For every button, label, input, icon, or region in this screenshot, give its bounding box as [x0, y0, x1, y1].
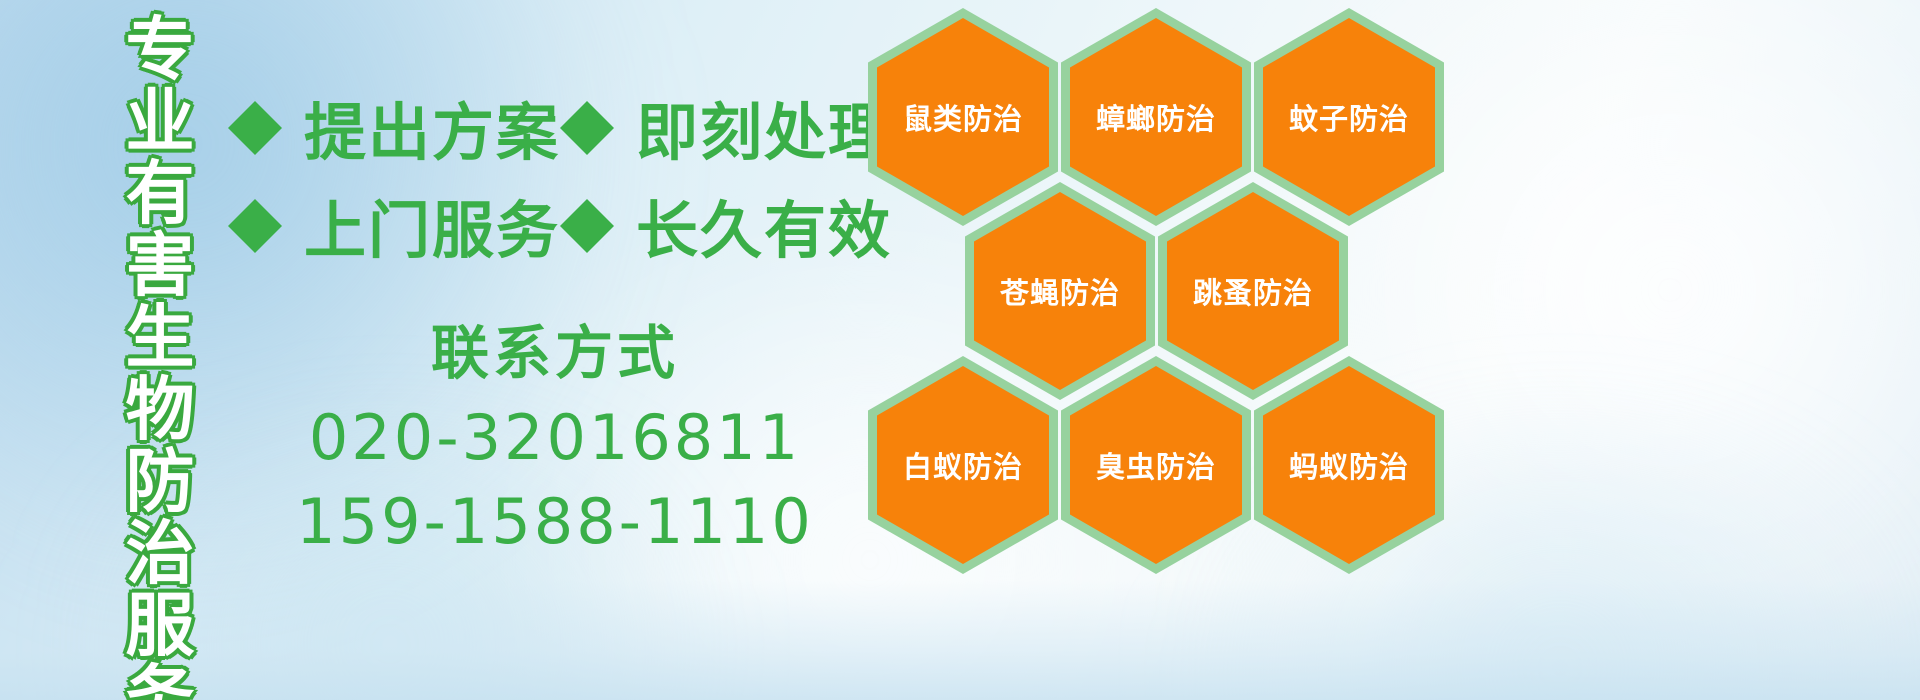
- feature-row: 提出方案 即刻处理: [228, 78, 868, 176]
- pest-control-banner: 专 业 有 害 生 物 防 治 服 务 提出方案 即刻处理 上门服务: [0, 0, 1920, 700]
- headline-char: 有: [126, 158, 195, 230]
- headline-char: 物: [126, 374, 195, 446]
- diamond-bullet-icon: [228, 74, 282, 128]
- feature-row: 上门服务 长久有效: [228, 176, 868, 274]
- service-label: 臭虫防治: [1096, 444, 1216, 486]
- service-label: 蚊子防治: [1289, 96, 1409, 138]
- headline-char: 务: [126, 662, 195, 700]
- service-hex-bedbug[interactable]: 臭虫防治: [1061, 356, 1251, 574]
- feature-label: 即刻处理: [636, 82, 892, 172]
- service-label: 鼠类防治: [903, 96, 1023, 138]
- feature-item: 上门服务: [228, 180, 560, 270]
- service-label: 蟑螂防治: [1096, 96, 1216, 138]
- contact-block: 联系方式 020-32016811 159-1588-1110: [240, 310, 870, 564]
- feature-item: 即刻处理: [560, 82, 892, 172]
- diamond-bullet-icon: [228, 172, 282, 226]
- headline-char: 生: [126, 302, 195, 374]
- feature-list: 提出方案 即刻处理 上门服务 长久有效: [228, 78, 868, 274]
- service-label: 白蚁防治: [903, 444, 1023, 486]
- feature-label: 上门服务: [304, 180, 560, 270]
- service-label: 苍蝇防治: [1000, 270, 1120, 312]
- service-hex-cockroach[interactable]: 蟑螂防治: [1061, 8, 1251, 226]
- feature-label: 长久有效: [636, 180, 892, 270]
- feature-label: 提出方案: [304, 82, 560, 172]
- service-label: 跳蚤防治: [1193, 270, 1313, 312]
- service-hex-termite[interactable]: 白蚁防治: [868, 356, 1058, 574]
- headline-char: 服: [126, 590, 195, 662]
- headline-char: 防: [126, 446, 195, 518]
- phone-number-landline[interactable]: 020-32016811: [240, 396, 870, 480]
- headline-char: 治: [126, 518, 195, 590]
- service-hex-flea[interactable]: 跳蚤防治: [1158, 182, 1348, 400]
- diamond-bullet-icon: [560, 172, 614, 226]
- service-hexagon-grid: 鼠类防治 蟑螂防治 蚊子防治 苍蝇防治 跳蚤防治 白蚁防治 臭虫防治 蚂蚁: [862, 0, 1462, 700]
- diamond-bullet-icon: [560, 74, 614, 128]
- service-hex-mosquito[interactable]: 蚊子防治: [1254, 8, 1444, 226]
- headline-char: 害: [126, 230, 195, 302]
- contact-title: 联系方式: [240, 310, 870, 396]
- phone-number-mobile[interactable]: 159-1588-1110: [240, 480, 870, 564]
- vertical-headline: 专 业 有 害 生 物 防 治 服 务: [108, 14, 212, 686]
- service-label: 蚂蚁防治: [1289, 444, 1409, 486]
- service-hex-fly[interactable]: 苍蝇防治: [965, 182, 1155, 400]
- feature-item: 长久有效: [560, 180, 892, 270]
- service-hex-ant[interactable]: 蚂蚁防治: [1254, 356, 1444, 574]
- headline-char: 业: [126, 86, 195, 158]
- feature-item: 提出方案: [228, 82, 560, 172]
- headline-char: 专: [126, 14, 195, 86]
- service-hex-rodent[interactable]: 鼠类防治: [868, 8, 1058, 226]
